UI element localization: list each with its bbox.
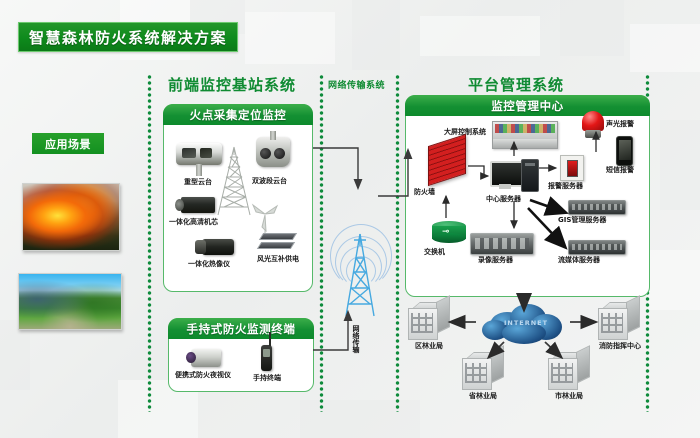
handheld-terminal-icon (261, 345, 272, 371)
integrated-thermal-imager-icon (202, 239, 234, 255)
portable-night-vision-icon (191, 349, 221, 367)
page-title-banner: 智慧森林防火系统解决方案 (18, 22, 238, 52)
section-heading-platform: 平台管理系统 (468, 74, 564, 95)
panel-fire-detection: 火点采集定位监控 重型云台 双波段云台 一体化高清机芯 一体化热像仪 (163, 104, 313, 292)
internet-cloud-icon: INTERNET (480, 300, 566, 344)
panel-handheld-terminal-title: 手持式防火监测终端 (187, 321, 296, 337)
integrated-hd-core-icon (181, 197, 215, 213)
provincial-forestry-bureau-label: 省林业局 (452, 392, 514, 400)
page-title: 智慧森林防火系统解决方案 (29, 27, 227, 48)
divider-mid-left (319, 74, 324, 412)
application-scenario-label: 应用场景 (45, 136, 91, 152)
transmission-tower-label: 网络传输 (352, 325, 360, 353)
dual-band-ptz-stand-icon (270, 131, 276, 140)
slide-canvas: 智慧森林防火系统解决方案 应用场景 前端监控基站系统 网络传输系统 平台管理系统… (0, 0, 700, 438)
building-city-forestry-bureau (548, 352, 588, 388)
heavy-ptz-label: 重型云台 (184, 178, 212, 186)
building-provincial-forestry-bureau (462, 352, 502, 388)
panel-handheld-terminal-header: 手持式防火监测终端 (168, 318, 314, 339)
heavy-ptz-icon (176, 143, 222, 165)
integrated-thermal-imager-label: 一体化热像仪 (188, 260, 230, 268)
internet-cloud-label: INTERNET (504, 319, 548, 327)
wireless-transmission-tower (330, 196, 390, 322)
handheld-terminal-label: 手持终端 (253, 374, 281, 382)
dual-band-ptz-label: 双波段云台 (252, 177, 287, 185)
panel-control-center: 监控管理中心 大屏控制系统 防火墙 ⊸ 交换机 中心服务器 报警服务器 声光报警… (405, 95, 650, 297)
section-heading-network: 网络传输系统 (328, 78, 385, 91)
wind-solar-power-label: 风光互补供电 (256, 255, 300, 263)
dual-band-ptz-icon (256, 137, 290, 167)
district-forestry-bureau-label: 区林业局 (398, 342, 460, 350)
building-district-forestry-bureau (408, 302, 448, 338)
divider-mid-right (395, 74, 400, 412)
forest-fire-photo (22, 183, 120, 251)
heavy-ptz-stand-icon (196, 164, 202, 176)
divider-left (147, 74, 152, 412)
solar-panel-icon (259, 231, 293, 251)
fire-command-center-label: 消防指挥中心 (584, 342, 656, 350)
integrated-hd-core-label: 一体化高清机芯 (169, 218, 218, 226)
city-forestry-bureau-label: 市林业局 (538, 392, 600, 400)
panel-fire-detection-title: 火点采集定位监控 (190, 107, 287, 123)
section-heading-frontend: 前端监控基站系统 (168, 74, 296, 95)
control-center-arrows (406, 96, 649, 296)
wind-turbine-icon (250, 201, 280, 235)
building-fire-command-center (598, 302, 638, 338)
panel-fire-detection-header: 火点采集定位监控 (163, 104, 313, 125)
forest-landscape-photo (18, 273, 122, 330)
panel-handheld-terminal: 手持式防火监测终端 便携式防火夜视仪 手持终端 (168, 318, 314, 392)
application-scenario-tag: 应用场景 (32, 133, 104, 154)
handheld-antenna-icon (269, 332, 271, 346)
tower-structure-icon (342, 232, 378, 318)
portable-night-vision-label: 便携式防火夜视仪 (175, 371, 231, 379)
